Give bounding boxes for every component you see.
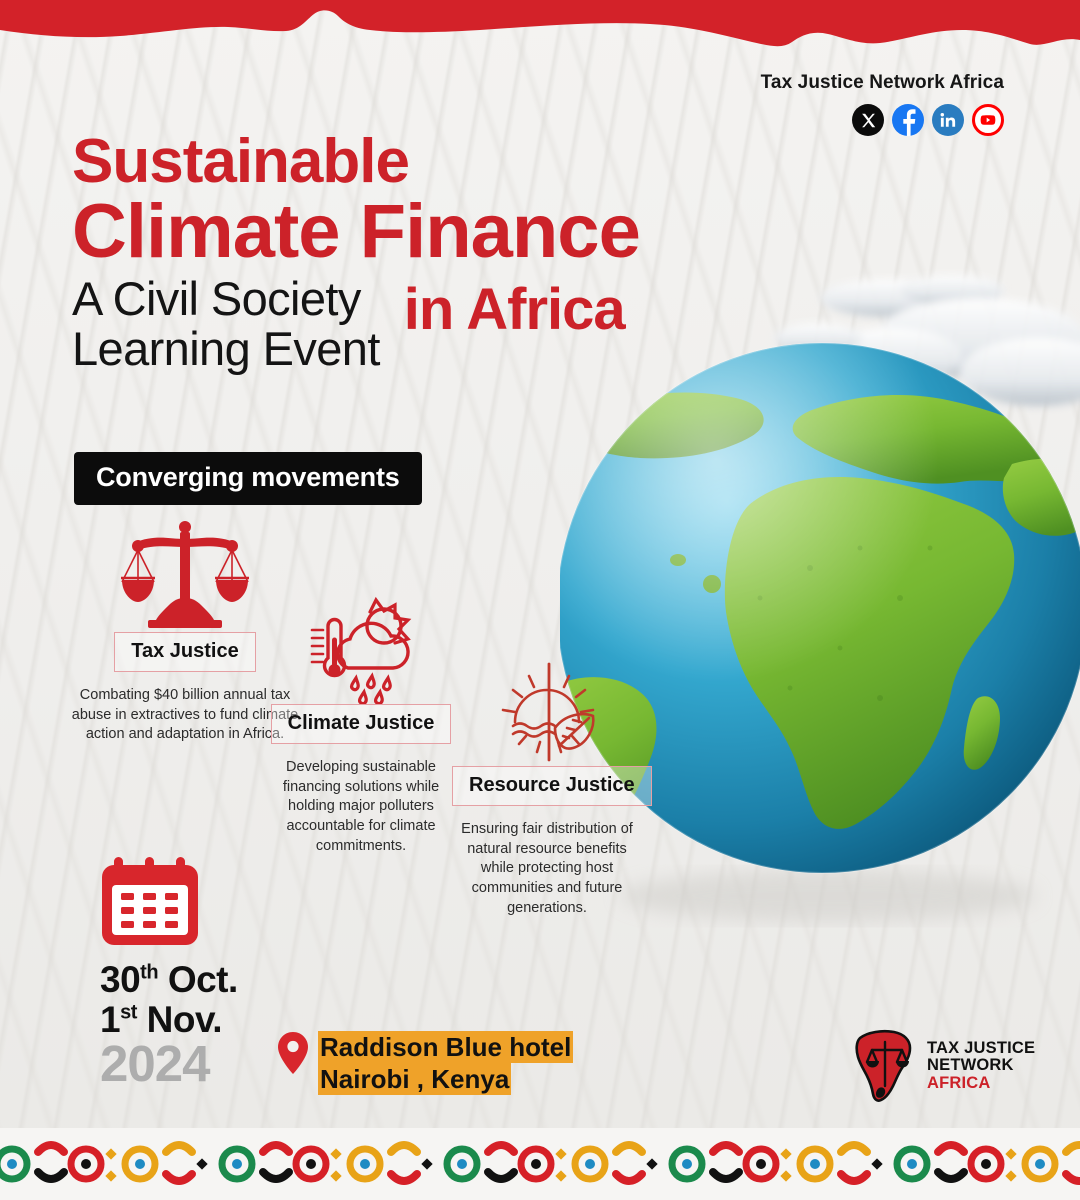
date-2-suffix: st [120,1002,137,1024]
youtube-link[interactable] [972,104,1004,136]
calendar-icon [100,855,200,947]
top-banner [0,0,1080,60]
youtube-icon [980,112,996,128]
sun-water-leaf-icon [452,660,642,766]
venue-line-1: Raddison Blue hotel [318,1032,573,1064]
linkedin-link[interactable] [932,104,964,136]
date-2-day: 1 [100,999,120,1040]
facebook-link[interactable] [892,104,924,136]
africa-scales-logo-icon [852,1028,918,1104]
headline-sub-line-1: A Civil Society [72,274,380,324]
brand-logo: TAX JUSTICE NETWORK AFRICA [852,1028,1035,1104]
linkedin-icon [939,111,957,129]
x-icon [860,112,877,129]
headline-sub-line-2: Learning Event [72,324,380,374]
venue-line-2: Nairobi , Kenya [318,1064,573,1096]
poster-canvas: Tax Justice Network Africa [0,0,1080,1200]
pillar-climate-justice-body: Developing sustainable financing solutio… [265,758,457,857]
brand-line-1: TAX JUSTICE [927,1040,1035,1057]
pillar-resource-justice: Resource Justice Ensuring fair distribut… [452,660,642,919]
date-1-month: Oct. [168,959,238,1000]
pillar-resource-justice-title: Resource Justice [452,766,652,806]
converging-movements-badge: Converging movements [74,452,422,505]
org-name: Tax Justice Network Africa [761,72,1004,94]
x-twitter-link[interactable] [852,104,884,136]
facebook-icon [892,104,924,136]
event-year: 2024 [100,1038,238,1089]
pillar-climate-justice: Climate Justice Developing sustainable f… [265,596,457,857]
pillar-tax-justice-title: Tax Justice [114,632,255,672]
event-date-block: 30th Oct. 1st Nov. 2024 [100,855,238,1089]
pillar-climate-justice-title: Climate Justice [271,704,452,744]
event-dates: 30th Oct. 1st Nov. 2024 [100,960,238,1089]
headline-subtitle-row: A Civil Society Learning Event in Africa [72,274,792,374]
map-pin-icon [278,1032,308,1074]
date-1-day: 30 [100,959,140,1000]
venue-text: Raddison Blue hotel Nairobi , Kenya [318,1032,573,1095]
brand-line-3: AFRICA [927,1075,1035,1092]
pillar-resource-justice-body: Ensuring fair distribution of natural re… [452,820,642,919]
venue-city: Nairobi , Kenya [318,1063,511,1095]
org-header: Tax Justice Network Africa [761,72,1004,136]
headline-subtitle: A Civil Society Learning Event [72,274,380,374]
headline-accent: in Africa [404,276,625,343]
african-pattern-band [0,1128,1080,1200]
headline-line-2: Climate Finance [72,196,792,269]
page-title: Sustainable Climate Finance A Civil Soci… [72,132,792,374]
event-venue: Raddison Blue hotel Nairobi , Kenya [278,1032,573,1095]
brand-line-2: NETWORK [927,1057,1035,1074]
date-1-suffix: th [140,962,158,984]
headline-line-1: Sustainable [72,132,792,192]
social-links [761,104,1004,136]
event-date-line-2: 1st Nov. [100,1000,238,1040]
thermometer-sun-cloud-rain-icon [265,596,457,704]
date-2-month: Nov. [147,999,222,1040]
event-date-line-1: 30th Oct. [100,960,238,1000]
brand-wordmark: TAX JUSTICE NETWORK AFRICA [927,1040,1035,1091]
venue-name: Raddison Blue hotel [318,1031,573,1063]
